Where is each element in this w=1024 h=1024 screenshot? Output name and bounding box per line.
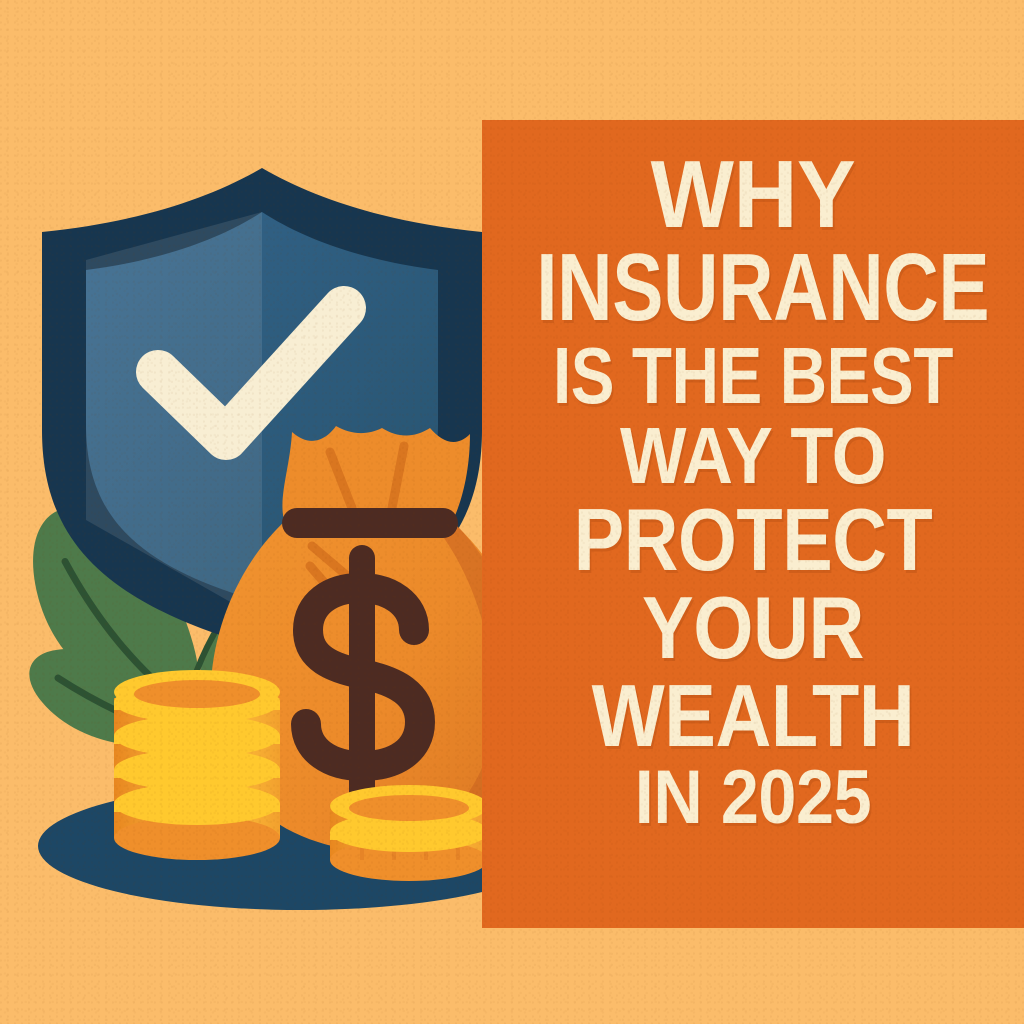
headline-line-2: INSURANCE (536, 243, 970, 332)
coin-stack-right (330, 785, 488, 881)
headline-line-8: IN 2025 (509, 763, 997, 834)
bag-tie-band (282, 508, 458, 538)
poster-canvas: WHY INSURANCE IS THE BEST WAY TO PROTECT… (0, 0, 1024, 1024)
coin-top-face (134, 680, 260, 708)
headline-text-block: WHY INSURANCE IS THE BEST WAY TO PROTECT… (482, 150, 1024, 833)
headline-line-7: WEALTH (515, 675, 992, 757)
coin-right-top-face (349, 795, 469, 821)
headline-line-6: YOUR (515, 587, 992, 669)
headline-line-3: IS THE BEST (531, 339, 975, 413)
headline-line-1: WHY (504, 150, 1003, 239)
headline-line-4: WAY TO (515, 419, 992, 493)
headline-line-5: PROTECT (520, 499, 986, 581)
headline-panel: WHY INSURANCE IS THE BEST WAY TO PROTECT… (482, 120, 1024, 928)
dollar-sign-icon (306, 558, 420, 796)
